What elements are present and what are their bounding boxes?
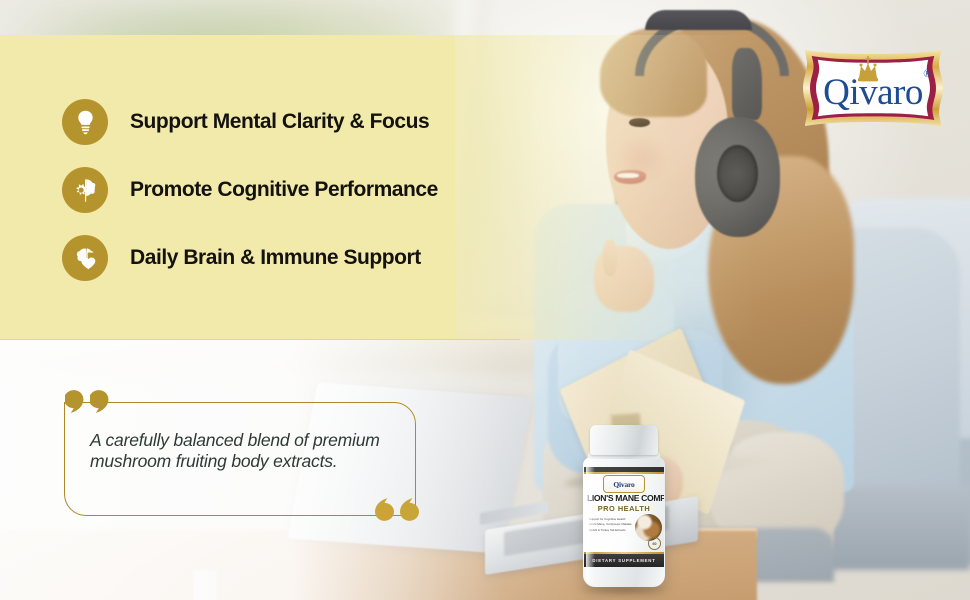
quote-block: A carefully balanced blend of premium mu… — [60, 388, 420, 524]
feature-item-mental-clarity: Support Mental Clarity & Focus — [62, 88, 582, 156]
label-product-subtitle: PRO HEALTH — [587, 505, 661, 512]
label-brand-badge: Qivaro — [603, 475, 645, 493]
brain-lightbulb-icon — [62, 99, 108, 145]
brand-logo: Qivaro ® — [795, 42, 951, 134]
product-bottle: Qivaro LION'S MANE COMPLEX PRO HEALTH Su… — [576, 425, 674, 600]
label-footer-text: DIETARY SUPPLEMENT — [592, 558, 655, 563]
quote-open-icon — [65, 390, 109, 413]
label-brand-text: Qivaro — [613, 480, 634, 489]
logo-wordmark: Qivaro — [823, 71, 923, 114]
feature-item-cognitive-performance: Promote Cognitive Performance — [62, 156, 582, 224]
label-bullets: Support for Cognitive Health Lion's Mane… — [589, 517, 633, 533]
brain-heart-icon — [62, 235, 108, 281]
bottle-cap — [590, 425, 658, 455]
label-gold-line-top — [584, 472, 664, 474]
label-bottom-band: DIETARY SUPPLEMENT — [584, 554, 664, 567]
feature-item-brain-immune: Daily Brain & Immune Support — [62, 224, 582, 292]
label-product-title: LION'S MANE COMPLEX — [587, 494, 661, 503]
brain-gear-icon — [62, 167, 108, 213]
feature-list: Support Mental Clarity & Focus Promote C… — [62, 88, 582, 292]
label-bullet: Reishi & Turkey Tail Extracts — [589, 528, 633, 533]
registered-trademark-icon: ® — [923, 69, 931, 80]
bottle-label: Qivaro LION'S MANE COMPLEX PRO HEALTH Su… — [584, 467, 664, 567]
mushroom-icon — [635, 514, 662, 541]
feature-label: Daily Brain & Immune Support — [130, 246, 421, 270]
feature-label: Support Mental Clarity & Focus — [130, 110, 429, 134]
panel-divider — [0, 339, 520, 340]
quote-text: A carefully balanced blend of premium mu… — [90, 430, 390, 473]
headphone-band-pad — [645, 10, 752, 30]
bottle-highlight — [586, 459, 595, 583]
logo-wordmark-wrap: Qivaro — [795, 42, 951, 134]
promo-banner: Qivaro LION'S MANE COMPLEX PRO HEALTH Su… — [0, 0, 970, 600]
quote-close-icon — [375, 498, 419, 521]
label-capsule-count: 60 — [648, 537, 661, 550]
label-bullet: Lion's Mane, Cordyceps, Maitake — [589, 522, 633, 527]
feature-label: Promote Cognitive Performance — [130, 178, 438, 202]
